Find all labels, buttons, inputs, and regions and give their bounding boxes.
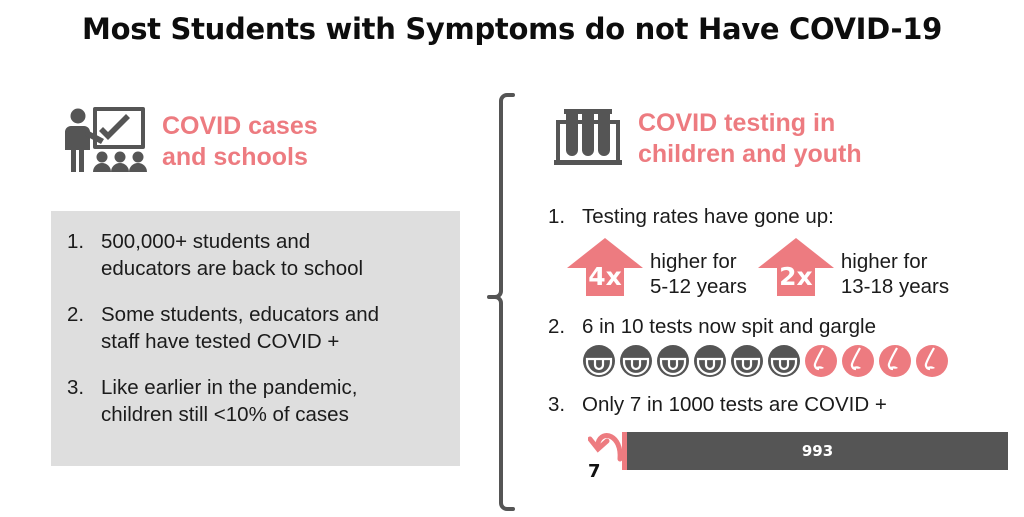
up-arrow-icon: 2x [757, 236, 835, 298]
list-item-text: 500,000+ students and educators are back… [101, 228, 452, 282]
mouth-gargle-icon [582, 344, 616, 378]
rate-arrow-2-multiplier: 2x [757, 262, 835, 291]
mouth-gargle-icon [656, 344, 690, 378]
list-item-number: 1. [67, 228, 101, 282]
right-heading-text: COVID testing in children and youth [638, 108, 862, 169]
nose-swab-icon [804, 344, 838, 378]
rate-arrow-1-caption: higher for 5-12 years [650, 235, 747, 299]
right-content-column: 1. Testing rates have gone up: 4x higher… [548, 205, 1018, 479]
rate-arrow-2-caption: higher for 13-18 years [841, 235, 949, 299]
list-item: 2. Some students, educators and staff ha… [67, 301, 452, 355]
left-heading-text: COVID cases and schools [162, 111, 318, 172]
up-arrow-icon: 4x [566, 236, 644, 298]
left-content-panel: 1. 500,000+ students and educators are b… [51, 211, 460, 466]
page-title: Most Students with Symptoms do not Have … [0, 12, 1024, 46]
right-item-1-text: Testing rates have gone up: [582, 205, 1018, 229]
mouth-gargle-icon [730, 344, 764, 378]
right-section-heading: COVID testing in children and youth [552, 100, 862, 177]
rate-arrow-group-2: 2x higher for 13-18 years [757, 235, 949, 299]
list-item: 1. 500,000+ students and educators are b… [67, 228, 452, 282]
covid-positive-bar-chart: 7 993 [566, 423, 1018, 479]
curly-brace-divider [487, 92, 515, 512]
stacked-bar: 993 [622, 432, 1008, 470]
test-tube-rack-icon [552, 100, 624, 177]
list-item-number: 2. [67, 301, 101, 355]
list-item-number: 3. [67, 374, 101, 428]
nose-swab-icon [878, 344, 912, 378]
list-item-text: Some students, educators and staff have … [101, 301, 452, 355]
mouth-gargle-icon [619, 344, 653, 378]
testing-rate-arrows: 4x higher for 5-12 years 2x higher for 1… [566, 235, 1018, 299]
test-type-icon-row [582, 344, 1018, 378]
mouth-gargle-icon [693, 344, 727, 378]
bar-annotation-value: 7 [588, 461, 601, 482]
list-item: 3. Like earlier in the pandemic, childre… [67, 374, 452, 428]
left-item-list: 1. 500,000+ students and educators are b… [67, 228, 452, 447]
rate-arrow-1-multiplier: 4x [566, 262, 644, 291]
rate-arrow-group-1: 4x higher for 5-12 years [566, 235, 747, 299]
right-item-3-number: 3. [548, 393, 582, 417]
right-item-2-text: 6 in 10 tests now spit and gargle [582, 315, 1018, 339]
list-item-text: Like earlier in the pandemic, children s… [101, 374, 452, 428]
mouth-gargle-icon [767, 344, 801, 378]
nose-swab-icon [841, 344, 875, 378]
nose-swab-icon [915, 344, 949, 378]
right-item-2: 2. 6 in 10 tests now spit and gargle [548, 315, 1018, 339]
teacher-classroom-icon [62, 104, 148, 179]
left-section-heading: COVID cases and schools [62, 104, 318, 179]
right-item-1-number: 1. [548, 205, 582, 229]
right-item-3: 3. Only 7 in 1000 tests are COVID + [548, 393, 1018, 417]
right-item-2-number: 2. [548, 315, 582, 339]
bar-segment-negative: 993 [627, 432, 1008, 470]
right-item-1: 1. Testing rates have gone up: [548, 205, 1018, 229]
right-item-3-text: Only 7 in 1000 tests are COVID + [582, 393, 1018, 417]
